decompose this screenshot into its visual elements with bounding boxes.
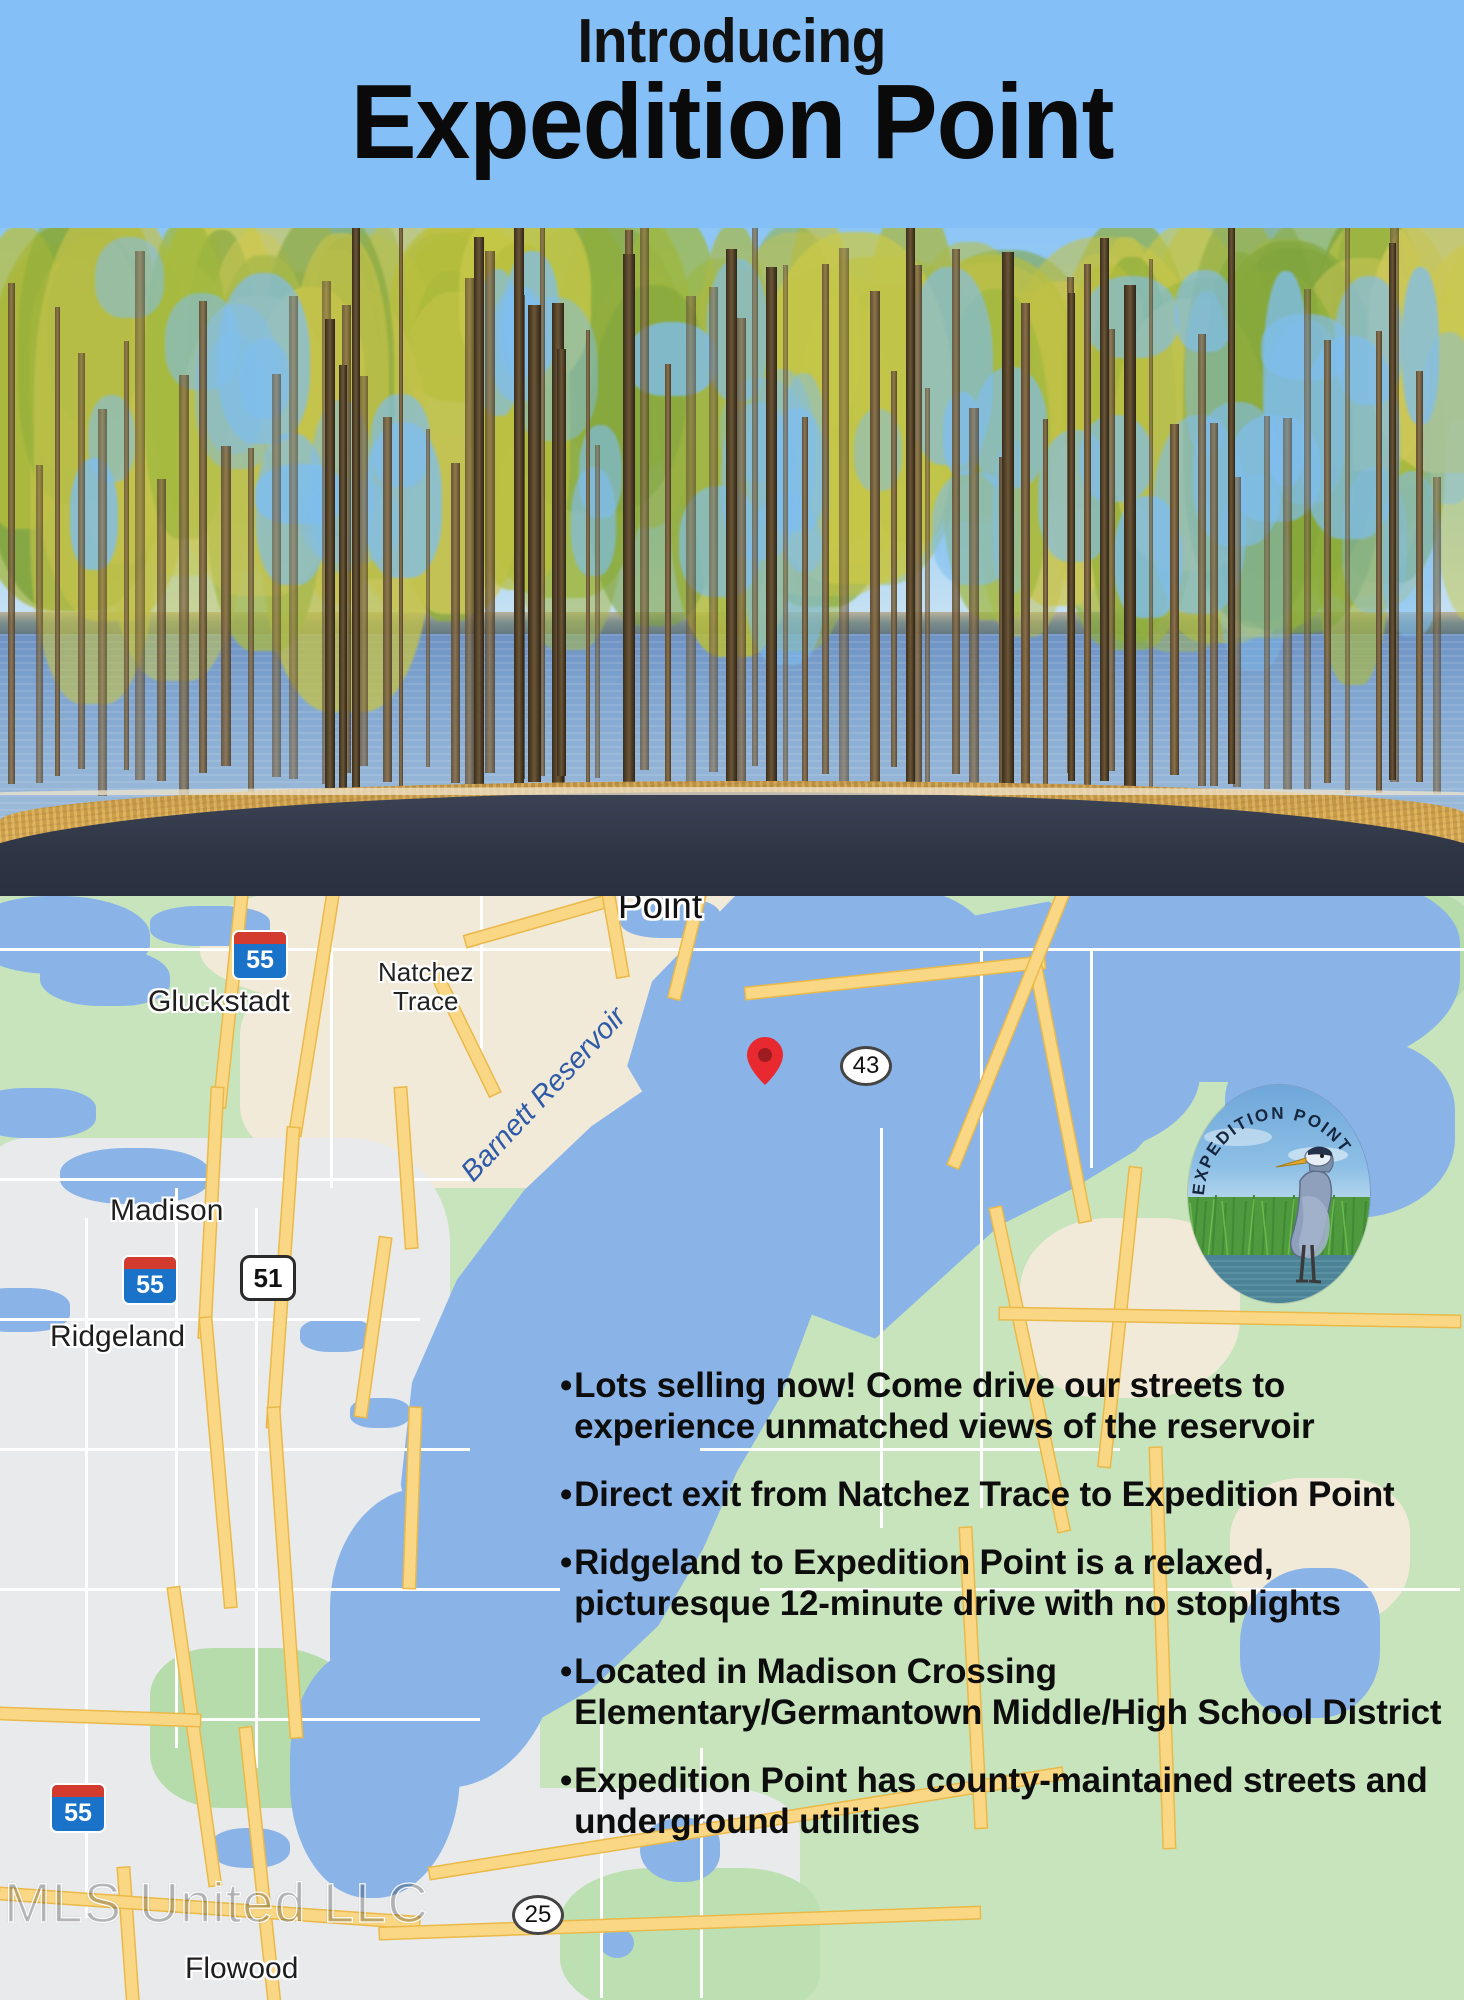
photo-tree-trunk bbox=[1416, 371, 1423, 782]
photo-tree-trunk-foreground bbox=[339, 365, 347, 798]
shield-number: 43 bbox=[853, 1052, 880, 1080]
bullet-marker: • bbox=[560, 1366, 572, 1407]
photo-tree-trunk bbox=[1170, 424, 1178, 775]
expedition-point-logo[interactable]: EXPEDITION POINT bbox=[1188, 1085, 1370, 1303]
photo-tree-trunk bbox=[595, 445, 600, 778]
photo-tree-trunk bbox=[451, 463, 460, 784]
photo-tree-trunk bbox=[665, 364, 671, 785]
bullet-item-2: • Ridgeland to Expedition Point is a rel… bbox=[560, 1543, 1460, 1625]
photo-tree-trunk bbox=[360, 376, 368, 766]
photo-tree-trunk bbox=[709, 287, 717, 772]
shield-interstate-55-north: 55 bbox=[234, 932, 286, 978]
photo-tree-trunk-foreground bbox=[352, 216, 360, 791]
photo-tree-trunk-foreground bbox=[557, 349, 566, 776]
map-minor-road-6 bbox=[0, 1448, 470, 1451]
photo-tree-trunk bbox=[1149, 259, 1153, 794]
photo-tree-trunk-foreground bbox=[528, 305, 541, 783]
photo-tree-trunk bbox=[802, 417, 809, 782]
photo-tree-trunk bbox=[36, 465, 43, 783]
map-small-lake-7 bbox=[300, 1318, 372, 1352]
shield-number: 55 bbox=[136, 1271, 164, 1300]
bullet-marker: • bbox=[560, 1543, 572, 1584]
shield-route-25: 25 bbox=[512, 1895, 564, 1935]
photo-tree-trunk bbox=[1043, 419, 1047, 786]
logo-artwork: EXPEDITION POINT bbox=[1188, 1085, 1370, 1303]
bullet-text: Expedition Point has county-maintained s… bbox=[574, 1761, 1460, 1843]
natchez-trace-label: Natchez Trace bbox=[378, 958, 473, 1016]
photo-tree-trunk bbox=[221, 446, 230, 766]
bullet-marker: • bbox=[560, 1652, 572, 1693]
shield-number: 55 bbox=[246, 946, 274, 975]
photo-tree-trunk bbox=[78, 353, 85, 769]
photo-sky-gap bbox=[95, 237, 164, 318]
map-small-lake-13 bbox=[600, 1928, 634, 1958]
reservoir-south-tail bbox=[290, 1648, 460, 1898]
photo-tree-trunk bbox=[1324, 340, 1330, 782]
map-minor-road-2 bbox=[480, 888, 483, 1058]
photo-tree-trunk bbox=[870, 291, 880, 795]
flyer-header: Introducing Expedition Point bbox=[0, 0, 1464, 228]
map-city-label-gluckstadt: Gluckstadt bbox=[148, 985, 290, 1019]
photo-tree-trunk bbox=[55, 307, 60, 776]
map-small-lake-4 bbox=[0, 1088, 96, 1138]
photo-tree-trunk bbox=[686, 296, 696, 790]
map-city-label-madison: Madison bbox=[110, 1194, 223, 1228]
photo-tree-trunk-foreground bbox=[514, 216, 524, 787]
shield-interstate-55-south: 55 bbox=[52, 1785, 104, 1831]
map-minor-road-1 bbox=[0, 948, 1464, 951]
bullet-marker: • bbox=[560, 1475, 572, 1516]
bullet-marker: • bbox=[560, 1761, 572, 1802]
photo-tree-trunk bbox=[179, 375, 189, 796]
photo-tree-trunk bbox=[199, 301, 207, 773]
bullet-item-0: • Lots selling now! Come drive our stree… bbox=[560, 1366, 1460, 1448]
photo-tree-trunk-foreground bbox=[623, 254, 635, 785]
bullet-item-4: • Expedition Point has county-maintained… bbox=[560, 1761, 1460, 1843]
photo-tree-trunk bbox=[586, 330, 590, 786]
photo-sky-gap bbox=[1185, 291, 1229, 455]
photo-tree-trunk-foreground bbox=[726, 249, 737, 791]
photo-tree-trunk bbox=[969, 408, 978, 785]
photo-tree-trunk bbox=[135, 251, 145, 781]
photo-tree-trunk bbox=[465, 278, 474, 784]
hero-photo bbox=[0, 216, 1464, 896]
photo-tree-trunk bbox=[272, 374, 282, 777]
shield-route-43: 43 bbox=[840, 1046, 892, 1086]
photo-tree-trunk bbox=[1264, 416, 1270, 789]
map-city-label-flowood: Flowood bbox=[185, 1952, 298, 1986]
shield-number: 51 bbox=[254, 1263, 283, 1294]
photo-tree-trunk bbox=[98, 409, 107, 796]
map-city-label-ridgeland: Ridgeland bbox=[50, 1320, 185, 1354]
map-green-patch-3 bbox=[560, 1868, 820, 2000]
photo-tree-trunk bbox=[124, 341, 129, 770]
photo-tree-trunk bbox=[248, 448, 254, 791]
photo-tree-trunk bbox=[952, 249, 960, 775]
photo-tree-layer bbox=[0, 216, 1464, 856]
photo-tree-trunk bbox=[737, 318, 747, 780]
photo-sky-gap bbox=[1420, 332, 1464, 504]
photo-tree-trunk bbox=[1210, 423, 1218, 785]
photo-tree-trunk-foreground bbox=[906, 221, 915, 788]
photo-tree-trunk bbox=[1084, 264, 1091, 786]
flyer-canvas: Barnett Reservoir Natchez Trace Expediti… bbox=[0, 0, 1464, 2000]
bullet-text: Lots selling now! Come drive our streets… bbox=[574, 1366, 1460, 1448]
photo-tree-trunk bbox=[925, 388, 930, 788]
photo-tree-trunk bbox=[891, 371, 897, 767]
photo-tree-trunk-foreground bbox=[1389, 243, 1397, 780]
photo-tree-trunk-foreground bbox=[1228, 216, 1235, 784]
photo-tree-trunk bbox=[399, 223, 404, 790]
map-minor-road-18 bbox=[1090, 948, 1093, 1168]
photo-tree-trunk-foreground bbox=[325, 319, 335, 798]
bullet-text: Ridgeland to Expedition Point is a relax… bbox=[574, 1543, 1460, 1625]
shield-us-51: 51 bbox=[240, 1255, 296, 1301]
photo-tree-trunk-foreground bbox=[1124, 285, 1136, 787]
photo-tree-trunk bbox=[1283, 418, 1292, 791]
photo-tree-trunk bbox=[1021, 303, 1031, 791]
photo-tree-trunk bbox=[540, 227, 544, 776]
photo-tree-trunk bbox=[383, 417, 392, 782]
photo-tree-trunk bbox=[1304, 289, 1312, 788]
watermark-mls-united: MLS United LLC bbox=[4, 1870, 429, 1935]
photo-tree-trunk-foreground bbox=[474, 237, 484, 784]
bullet-text: Located in Madison Crossing Elementary/G… bbox=[574, 1652, 1460, 1734]
photo-tree-trunk-foreground bbox=[1068, 293, 1075, 781]
photo-tree-trunk bbox=[8, 283, 15, 784]
map-small-lake-11 bbox=[210, 1828, 290, 1868]
photo-tree-trunk bbox=[1376, 331, 1382, 793]
feature-bullet-list: • Lots selling now! Come drive our stree… bbox=[560, 1366, 1460, 1869]
header-title: Expedition Point bbox=[351, 69, 1114, 175]
bullet-text: Direct exit from Natchez Trace to Expedi… bbox=[574, 1475, 1460, 1516]
photo-tree-trunk bbox=[485, 251, 494, 773]
bullet-item-3: • Located in Madison Crossing Elementary… bbox=[560, 1652, 1460, 1734]
map-pin-icon[interactable] bbox=[747, 1037, 783, 1085]
photo-tree-trunk-foreground bbox=[1100, 238, 1109, 781]
photo-tree-trunk bbox=[289, 296, 298, 780]
photo-tree-trunk bbox=[640, 218, 649, 770]
photo-tree-trunk-foreground bbox=[1002, 252, 1013, 794]
shield-interstate-55-madison: 55 bbox=[124, 1257, 176, 1303]
photo-tree-trunk bbox=[1345, 222, 1351, 794]
photo-tree-trunk bbox=[426, 429, 430, 766]
shield-number: 25 bbox=[525, 1901, 552, 1929]
photo-tree-trunk bbox=[752, 224, 758, 767]
shield-number: 55 bbox=[64, 1799, 92, 1828]
photo-tree-trunk bbox=[157, 479, 165, 781]
photo-tree-trunk bbox=[822, 264, 829, 774]
bullet-item-1: • Direct exit from Natchez Trace to Expe… bbox=[560, 1475, 1460, 1516]
photo-tree-trunk bbox=[839, 248, 848, 782]
photo-tree-trunk-foreground bbox=[766, 267, 776, 785]
map-minor-road-3 bbox=[0, 1178, 470, 1181]
photo-tree-trunk bbox=[1433, 477, 1442, 794]
photo-tree-trunk bbox=[1198, 334, 1206, 785]
photo-tree-trunk bbox=[783, 265, 788, 781]
